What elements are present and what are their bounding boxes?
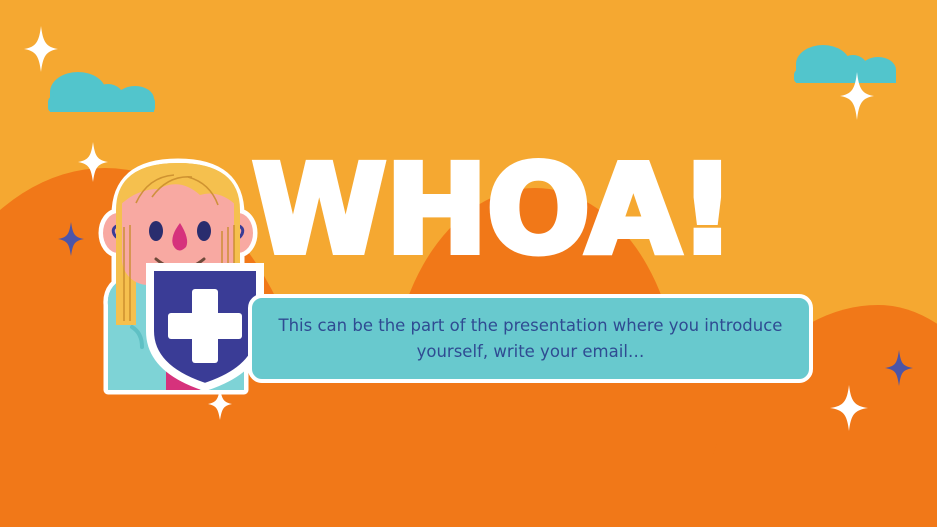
slide-title: WHOA! [252,150,842,270]
subtitle-text: This can be the part of the presentation… [268,313,793,365]
cloud-top-left-icon [42,70,157,112]
presentation-slide: WHOA! [0,0,937,527]
sparkle-left-blue-icon [58,222,84,256]
sparkle-bottom-right-blue-icon [885,350,913,386]
sparkle-top-left-icon [24,26,58,72]
sparkle-top-right-icon [840,72,874,120]
subtitle-box: This can be the part of the presentation… [248,294,813,383]
sparkle-bottom-right-white-icon [830,385,868,431]
